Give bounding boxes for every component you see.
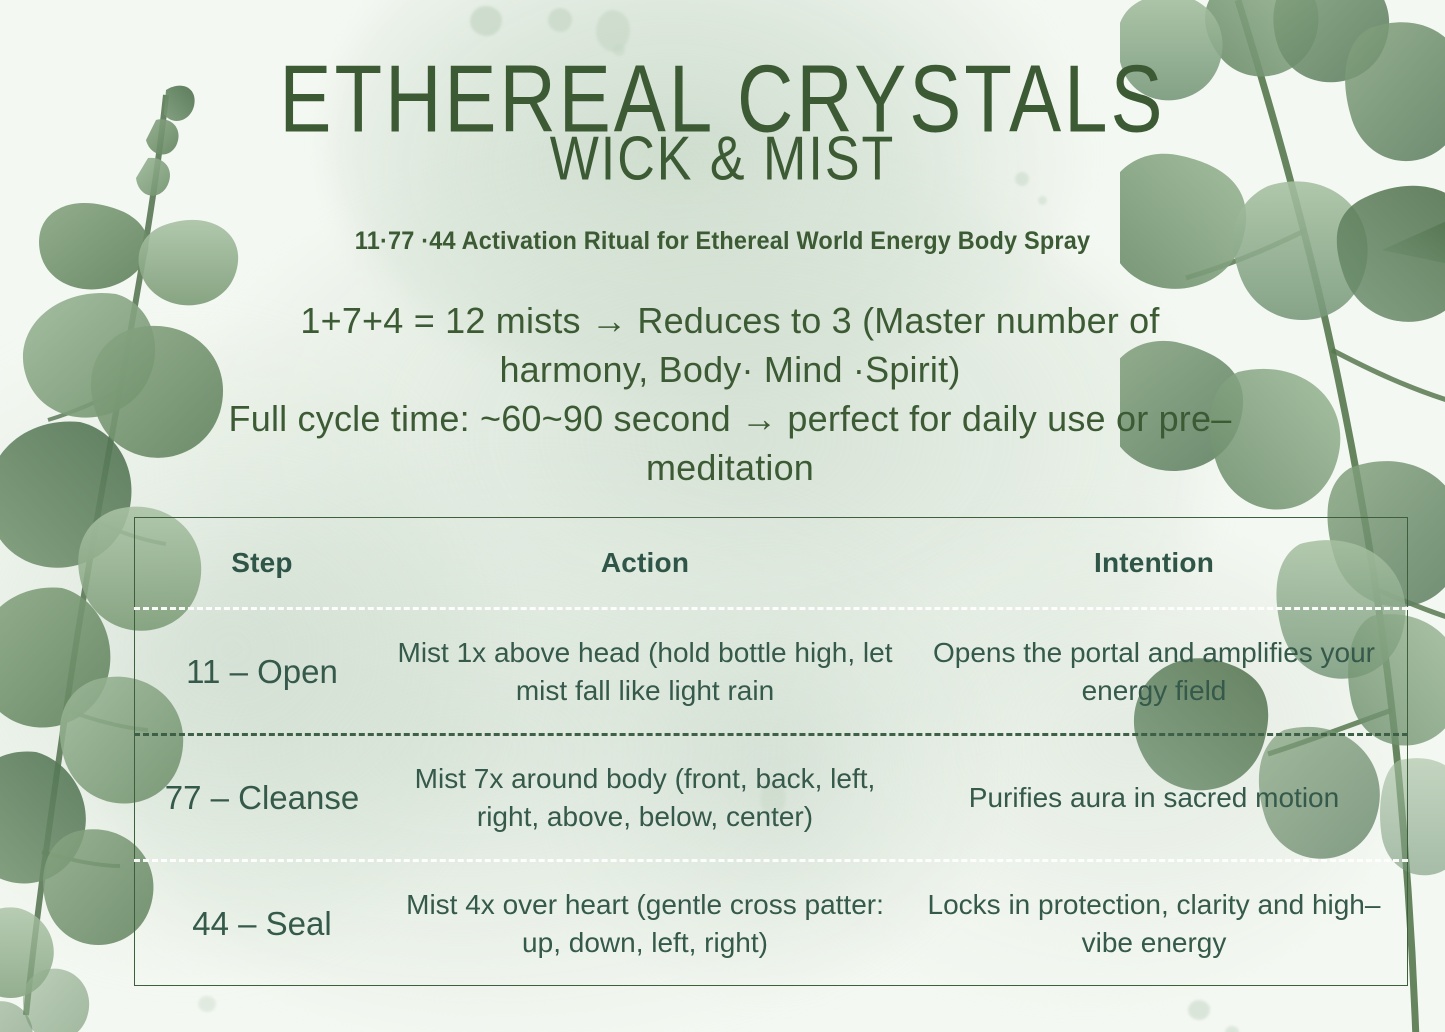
cell-step: 77 – Cleanse bbox=[134, 778, 390, 818]
cell-intention: Locks in protection, clarity and high–vi… bbox=[900, 886, 1408, 962]
table-row: 44 – Seal Mist 4x over heart (gentle cro… bbox=[134, 861, 1408, 986]
cell-action: Mist 7x around body (front, back, left, … bbox=[390, 760, 900, 836]
column-header-action: Action bbox=[390, 547, 900, 579]
intro-paragraph-1: 1+7+4 = 12 mists → Reduces to 3 (Master … bbox=[225, 296, 1235, 394]
cell-intention: Purifies aura in sacred motion bbox=[900, 779, 1408, 817]
poster-canvas: ETHEREAL CRYSTALS WICK & MIST 11·77 ·44 … bbox=[0, 0, 1445, 1032]
table-header-row: Step Action Intention bbox=[134, 517, 1408, 609]
cell-step: 11 – Open bbox=[134, 652, 390, 692]
column-header-intention: Intention bbox=[900, 547, 1408, 579]
cell-action: Mist 4x over heart (gentle cross patter:… bbox=[390, 886, 900, 962]
cell-action: Mist 1x above head (hold bottle high, le… bbox=[390, 634, 900, 710]
page-subtitle: WICK & MIST bbox=[0, 128, 1445, 190]
cell-intention: Opens the portal and amplifies your ener… bbox=[900, 634, 1408, 710]
table-row: 77 – Cleanse Mist 7x around body (front,… bbox=[134, 735, 1408, 861]
intro-paragraph-2: Full cycle time: ~60~90 second → perfect… bbox=[225, 394, 1235, 492]
table-row: 11 – Open Mist 1x above head (hold bottl… bbox=[134, 609, 1408, 735]
tagline: 11·77 ·44 Activation Ritual for Ethereal… bbox=[43, 225, 1401, 257]
column-header-step: Step bbox=[134, 547, 390, 579]
cell-step: 44 – Seal bbox=[134, 904, 390, 944]
